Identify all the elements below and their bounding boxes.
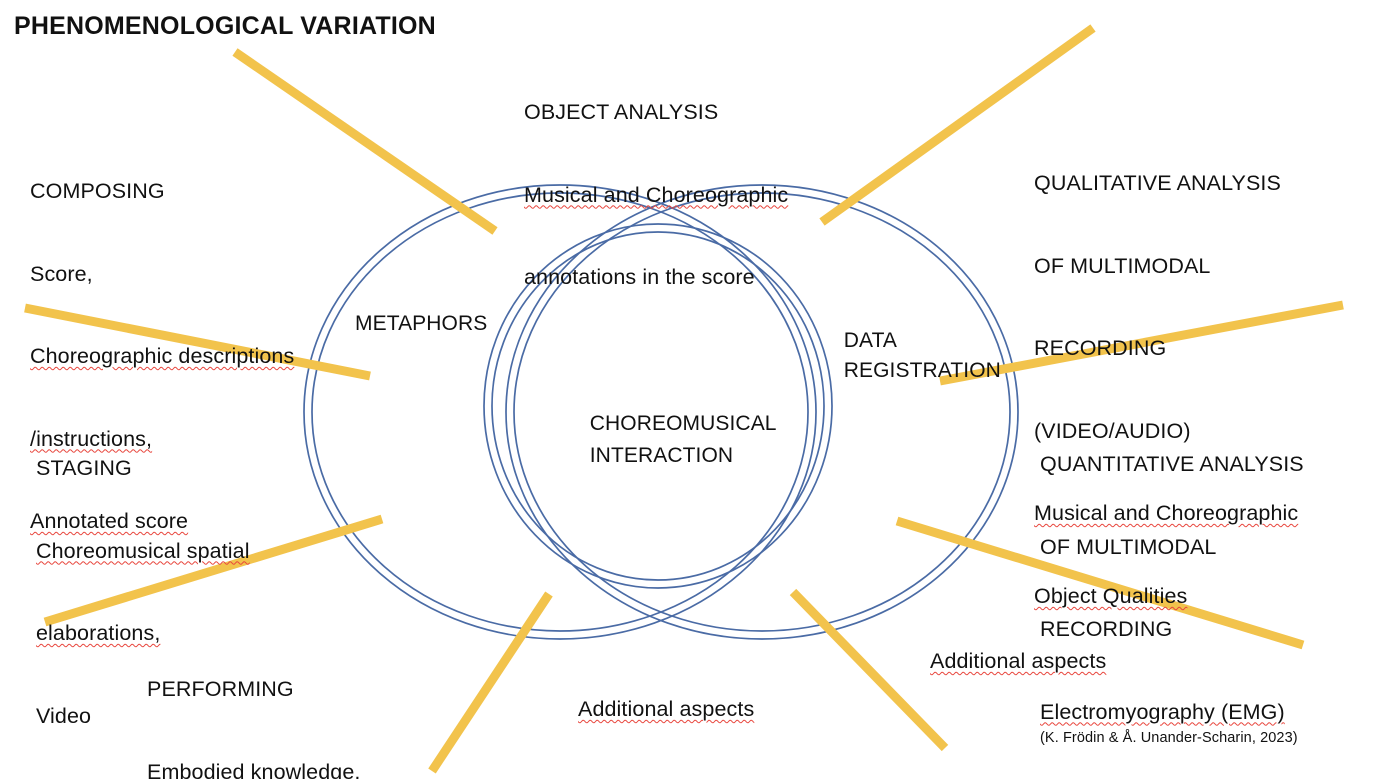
label-choreomusical-interaction: CHOREOMUSICAL INTERACTION [566,375,777,505]
label-data-registration-line-2: REGISTRATION [844,359,1001,382]
annotation-quantitative-line-1: OF MULTIMODAL [1040,534,1304,562]
annotation-quantitative-line-2: RECORDING [1040,616,1304,644]
citation: (K. Frödin & Å. Unander-Scharin, 2023) [1040,729,1298,748]
page-title: PHENOMENOLOGICAL VARIATION [14,10,436,42]
annotation-qualitative-line-1: OF MULTIMODAL [1034,253,1298,281]
annotation-qualitative-heading: QUALITATIVE ANALYSIS [1034,170,1298,198]
annotation-performing-heading: PERFORMING [147,676,360,704]
label-core-line-2: INTERACTION [590,444,733,467]
annotation-composing-line-1: Score, [30,261,294,289]
annotation-quantitative-heading: QUANTITATIVE ANALYSIS [1040,451,1304,479]
annotation-staging-heading: STAGING [36,455,250,483]
label-core-line-1: CHOREOMUSICAL [590,412,777,435]
connector-additional-left [432,594,549,771]
diagram-canvas: PHENOMENOLOGICAL VARIATION COMPOSING Sco… [0,0,1381,779]
annotation-quantitative-analysis: QUANTITATIVE ANALYSIS OF MULTIMODAL RECO… [1040,396,1304,779]
connector-additional-right [793,592,945,748]
annotation-composing-heading: COMPOSING [30,178,294,206]
annotation-object-analysis-heading: OBJECT ANALYSIS [524,99,788,127]
annotation-qualitative-line-2: RECORDING [1034,335,1298,363]
label-data-registration-line-1: DATA [844,329,897,352]
label-metaphors: METAPHORS [355,311,487,338]
annotation-performing: PERFORMING Embodied knowledge, Video [147,621,360,779]
annotation-object-analysis: OBJECT ANALYSIS Musical and Choreographi… [524,44,788,347]
annotation-object-analysis-line-1: Musical and Choreographic [524,182,788,210]
annotation-performing-line-1: Embodied knowledge, [147,759,360,779]
label-data-registration: DATA REGISTRATION [820,296,1001,415]
annotation-composing-line-2: Choreographic descriptions [30,343,294,371]
annotation-quantitative-line-3: Electromyography (EMG) [1040,699,1304,727]
annotation-staging-line-1: Choreomusical spatial [36,538,250,566]
annotation-additional-aspects-left: Additional aspects [578,696,754,724]
annotation-object-analysis-line-2: annotations in the score [524,264,788,292]
annotation-additional-aspects-right: Additional aspects [930,648,1106,676]
